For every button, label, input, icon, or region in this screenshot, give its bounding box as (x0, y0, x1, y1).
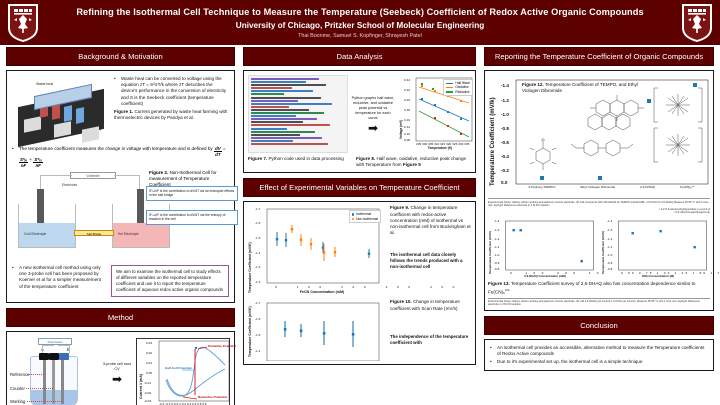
figure1-text: • Waste heat can be converted to voltage… (114, 76, 229, 142)
legend-swatch-icon (446, 87, 453, 88)
figure12-plot: Temperature Coefficient (mV/k) -1.4 -1.2… (488, 74, 710, 194)
legend-label: Non-Isothermal (356, 217, 378, 221)
figure9-plot: Temperature Coefficient (mV/K) -1.7 -1.6… (247, 205, 387, 297)
temperature-coefficient-definition: The temperature coefficient measures the… (19, 146, 213, 151)
page-title: Refining the Isothermal Cell Technique t… (46, 6, 674, 18)
background-panel: Waste heat I • Waste heat can be conve (6, 70, 235, 303)
poster-header: Refining the Isothermal Cell Technique t… (0, 0, 720, 45)
cv-halfcell-label: Half-Cell Potential (165, 366, 182, 370)
figure13-row: a) Temperature Coefficient (mV/K) -1.4 -… (488, 218, 710, 278)
legend-swatch-icon (446, 83, 453, 84)
three-probe-cell-illustration: Potentiostat A B Reference Counter (10, 336, 98, 405)
figure8-plot: Voltage (mV) 0.44 0.22 0.20 0.18 0.16 0.… (398, 75, 474, 153)
python-code-block (248, 75, 348, 153)
figure10-plot: Temperature Coefficient (mV/K) -1.7 -1.6… (247, 299, 387, 361)
fig13a-x-axis-label: 2,6-DHAQ Concentration (mM) (494, 274, 596, 278)
right-arrow-icon: ➡ (112, 374, 122, 384)
fig12-category-tempo: 4-Hydroxy-TEMPO¹ (528, 185, 555, 189)
header-text-block: Refining the Isothermal Cell Technique t… (40, 6, 680, 40)
effect-panel: Temperature Coefficient (mV/K) -1.7 -1.6… (243, 201, 476, 365)
figure7-caption-text: Python code used in data processing (268, 156, 343, 161)
bullet-dot-icon: • (12, 265, 16, 297)
conclusion-bullet-2: • Due to it's experimental set up, the i… (490, 359, 708, 365)
figure1-current-label: I (100, 128, 101, 132)
conclusion-bullet-1-text: An isothermal cell provides an accessibl… (497, 345, 708, 357)
fig12-category-dhaq: 2,6-DHAQ² (640, 185, 655, 189)
potentiostat-wire-b (58, 345, 70, 353)
data-analysis-panel: Python graphs half wave, reductive, and … (243, 70, 476, 173)
bullet-dot-icon: • (490, 345, 494, 357)
data-analysis-row: Python graphs half wave, reductive, and … (248, 75, 471, 153)
eq-t2-den: nF (35, 163, 42, 168)
conclusion-bullet-1: • An isothermal cell provides an accessi… (490, 345, 708, 357)
leader-line-working (27, 401, 62, 402)
figure9-note: The isothermal cell data closely follows… (390, 252, 472, 269)
background-bullet-2: • The temperature coefficient measures t… (12, 146, 229, 168)
bullet-dot-icon: • (490, 359, 494, 365)
leader-line-counter (26, 388, 53, 389)
section-header-method: Method (6, 308, 235, 327)
device-n-leg (76, 107, 84, 124)
aim-statement: We aim to examine the isothermal cell to… (111, 265, 229, 297)
affiliation: University of Chicago, Pritzker School o… (46, 21, 674, 30)
legend-label: Reductive (455, 90, 469, 94)
figure8-label: Figure 8. (356, 156, 375, 161)
figure13b-plot: Temperature Coefficient (mV/K) -1.4 -1.3… (601, 218, 710, 278)
cold-electrolyte-label: Cold Electrolyte (24, 232, 46, 236)
right-arrow-icon: ➡ (368, 123, 378, 133)
method-cv-plot: Current 1 (mA) 0.03 0.02 0.01 0.00 -0.01… (136, 338, 230, 405)
eq-lhs-den: dT (214, 152, 221, 157)
method-panel: Potentiostat A B Reference Counter (6, 331, 235, 405)
fig10-series (247, 299, 387, 361)
wire-left (40, 175, 72, 189)
cv-oxidative-label: Oxidative Potential (208, 344, 228, 348)
fig8-x-axis-label: Temperature (K) (406, 146, 474, 150)
conclusion-bullet-2-text: Due to it's experimental set up, the iso… (497, 359, 642, 365)
authors: Thai Boonme, Samuel S. Kopfinger, Shraye… (46, 33, 674, 39)
equation-dVdT: dV dT (214, 146, 222, 157)
column-middle: Data Analysis (243, 47, 476, 370)
label-working: Working (10, 399, 25, 404)
figure1-caption: Figure 1. Current generated by waste hea… (114, 109, 229, 121)
fig9-x-axis-label: FeCN Concentration (mM) (257, 290, 387, 294)
section-header-data-analysis: Data Analysis (243, 47, 476, 66)
hot-electrolyte-label: Hot Electrolyte (118, 232, 139, 236)
data-analysis-arrow-text: Python graphs half wave, reductive, and … (351, 96, 395, 121)
method-arrow-text: 3-probe cell runs CV (100, 362, 134, 372)
leader-line-reference (28, 374, 44, 375)
fig12-category-viologen: Ethyl Viologen Dibromide (580, 185, 615, 189)
cv-reductive-label: Reductive Potential (198, 395, 220, 399)
eq-t1-den: nF (20, 163, 27, 168)
figure1-waste-heat-label: Waste heat (36, 82, 53, 86)
legend-dot-icon (352, 218, 355, 221)
equation-term-1: S*ᵢₑ nF (19, 157, 28, 168)
potentiostat-wire-a (42, 345, 54, 353)
figure13-experimental-setup: Experimental Setup: Glassy carbon workin… (488, 298, 710, 307)
fig12-category-fecn: Fe(CN)₆³⁴⁻ (680, 185, 695, 189)
data-analysis-arrow-block: Python graphs half wave, reductive, and … (351, 96, 395, 133)
probe-cap-reference (39, 353, 49, 360)
figure1-row: Waste heat I • Waste heat can be conve (12, 76, 229, 142)
probe-cap-counter (49, 353, 59, 360)
bullet-dot-icon: • (12, 146, 16, 152)
reference-probe (43, 360, 46, 404)
column-left: Background & Motivation Waste heat I (6, 47, 235, 405)
probe-cap-working (59, 353, 69, 360)
background-bullet-3-text: A new isothermal cell method using only … (19, 265, 106, 297)
legend-item-reductive: Reductive (446, 90, 470, 94)
section-header-background: Background & Motivation (6, 47, 235, 66)
figure10-label: Figure 10. (390, 299, 412, 304)
figure13-caption-text: Temperature Coefficient survey of 2,6-DH… (488, 281, 695, 295)
background-footer-row: • A new isothermal cell method using onl… (12, 265, 229, 297)
figure9-caption: Figure 9. Change in temperature coeffici… (390, 205, 472, 236)
working-probe (61, 360, 64, 404)
legend-item-non-isothermal: Non-Isothermal (352, 217, 378, 221)
label-reference: Reference (10, 372, 29, 377)
figure13a-plot: Temperature Coefficient (mV/K) -1.4 -1.3… (488, 218, 597, 278)
figure1-thermoelectric-illustration: Waste heat I (12, 76, 110, 142)
figure13-panel-a: a) Temperature Coefficient (mV/K) -1.4 -… (488, 218, 597, 278)
figure8-caption: Figure 8. Half wave, oxidative, reductiv… (356, 156, 471, 168)
eq-plus: + (29, 157, 32, 162)
voltmeter: Voltmeter (70, 172, 116, 179)
background-bullet-1: • Waste heat can be converted to voltage… (114, 76, 229, 107)
figure9-label: Figure 9. (390, 205, 409, 210)
note-entropy-reaction: S*ᵣₓ/nF is the contribution to dV/dT via… (146, 210, 238, 225)
figure1-label: Figure 1. (114, 109, 133, 114)
legend-swatch-icon (446, 91, 453, 92)
equation-term-2: S*ᵣₓ nF (33, 157, 43, 168)
method-arrow-block: 3-probe cell runs CV ➡ (100, 362, 134, 384)
device-pad (82, 126, 99, 143)
background-bullet-1-text: Waste heat can be converted to voltage u… (121, 76, 229, 107)
figure13-label: Figure 13. (488, 281, 510, 286)
figure12-footnote-2: ² 2,6-dihydroxyanthraquinone (488, 211, 710, 215)
data-analysis-captions: Figure 7. Python code used in data proce… (248, 156, 471, 168)
uchicago-crest-icon (6, 3, 40, 43)
eq-equals: = (223, 146, 226, 151)
figure12-label: Figure 12. (522, 82, 544, 87)
figure10-row: Temperature Coefficient (mV/K) -1.7 -1.6… (247, 299, 472, 361)
method-figure-row: Potentiostat A B Reference Counter (10, 335, 231, 405)
reporting-panel: Temperature Coefficient (mV/k) -1.4 -1.2… (484, 70, 714, 311)
device-n-leg (64, 105, 72, 122)
fig9-legend: Isothermal Non-Isothermal (349, 210, 381, 223)
salt-bridge: Salt Bridge (74, 230, 114, 236)
label-counter: Counter (10, 386, 25, 391)
note-ion-transport: S*ᵢₑ/nF is the contribution to dV/dT via… (146, 186, 238, 201)
figure10-text: Figure 10. Change in temperature coeffic… (390, 299, 472, 361)
background-bullet-2-text: The temperature coefficient measures the… (19, 146, 229, 168)
potentiostat: Potentiostat (38, 338, 72, 345)
conclusion-panel: • An isothermal cell provides an accessi… (484, 339, 714, 372)
figure13-caption: Figure 13. Temperature Coefficient surve… (488, 281, 710, 296)
counter-probe (52, 360, 55, 404)
fig13b-series (601, 218, 710, 278)
fig13b-x-axis-label: KOH Concentration (M) (607, 274, 709, 278)
fig13a-series (488, 218, 597, 278)
uchicago-crest-icon (680, 3, 714, 43)
background-bullet-3: • A new isothermal cell method using onl… (12, 265, 106, 297)
fig12-x-categories: 4-Hydroxy-TEMPO¹ Ethyl Viologen Dibromid… (516, 185, 708, 189)
figure13-caption-superscript: 3/4- (505, 288, 510, 292)
figure8-caption-ref: Figure 5 (403, 162, 421, 167)
legend-dot-icon (352, 213, 355, 216)
figure9-text: Figure 9. Change in temperature coeffici… (390, 205, 472, 297)
fig8-legend: Half Wave Oxidative Reductive (443, 79, 473, 96)
figure7-caption: Figure 7. Python code used in data proce… (248, 156, 350, 168)
figure10-caption: Figure 10. Change in temperature coeffic… (390, 299, 472, 311)
figure7-label: Figure 7. (248, 156, 267, 161)
figure10-note: The independence of the temperature coef… (390, 334, 472, 346)
section-header-reporting: Reporting the Temperature Coefficient of… (484, 47, 714, 66)
wire-right (114, 175, 140, 189)
section-header-effect: Effect of Experimental Variables on Temp… (243, 178, 476, 197)
figure12-caption: Figure 12. Temperature Coefficient of TE… (522, 82, 642, 94)
bullet-dot-icon: • (114, 76, 118, 107)
figure9-row: Temperature Coefficient (mV/K) -1.7 -1.6… (247, 205, 472, 297)
poster-root: Refining the Isothermal Cell Technique t… (0, 0, 720, 405)
column-right: Reporting the Temperature Coefficient of… (484, 47, 714, 376)
section-header-conclusion: Conclusion (484, 316, 714, 335)
figure13-panel-b: b) Temperature Coefficient (mV/K) -1.4 -… (601, 218, 710, 278)
figure2-label: Figure 2. (149, 170, 168, 175)
figure2-nonisothermal-cell: Figure 2. Non-Isothermal Cell for measur… (12, 170, 229, 262)
